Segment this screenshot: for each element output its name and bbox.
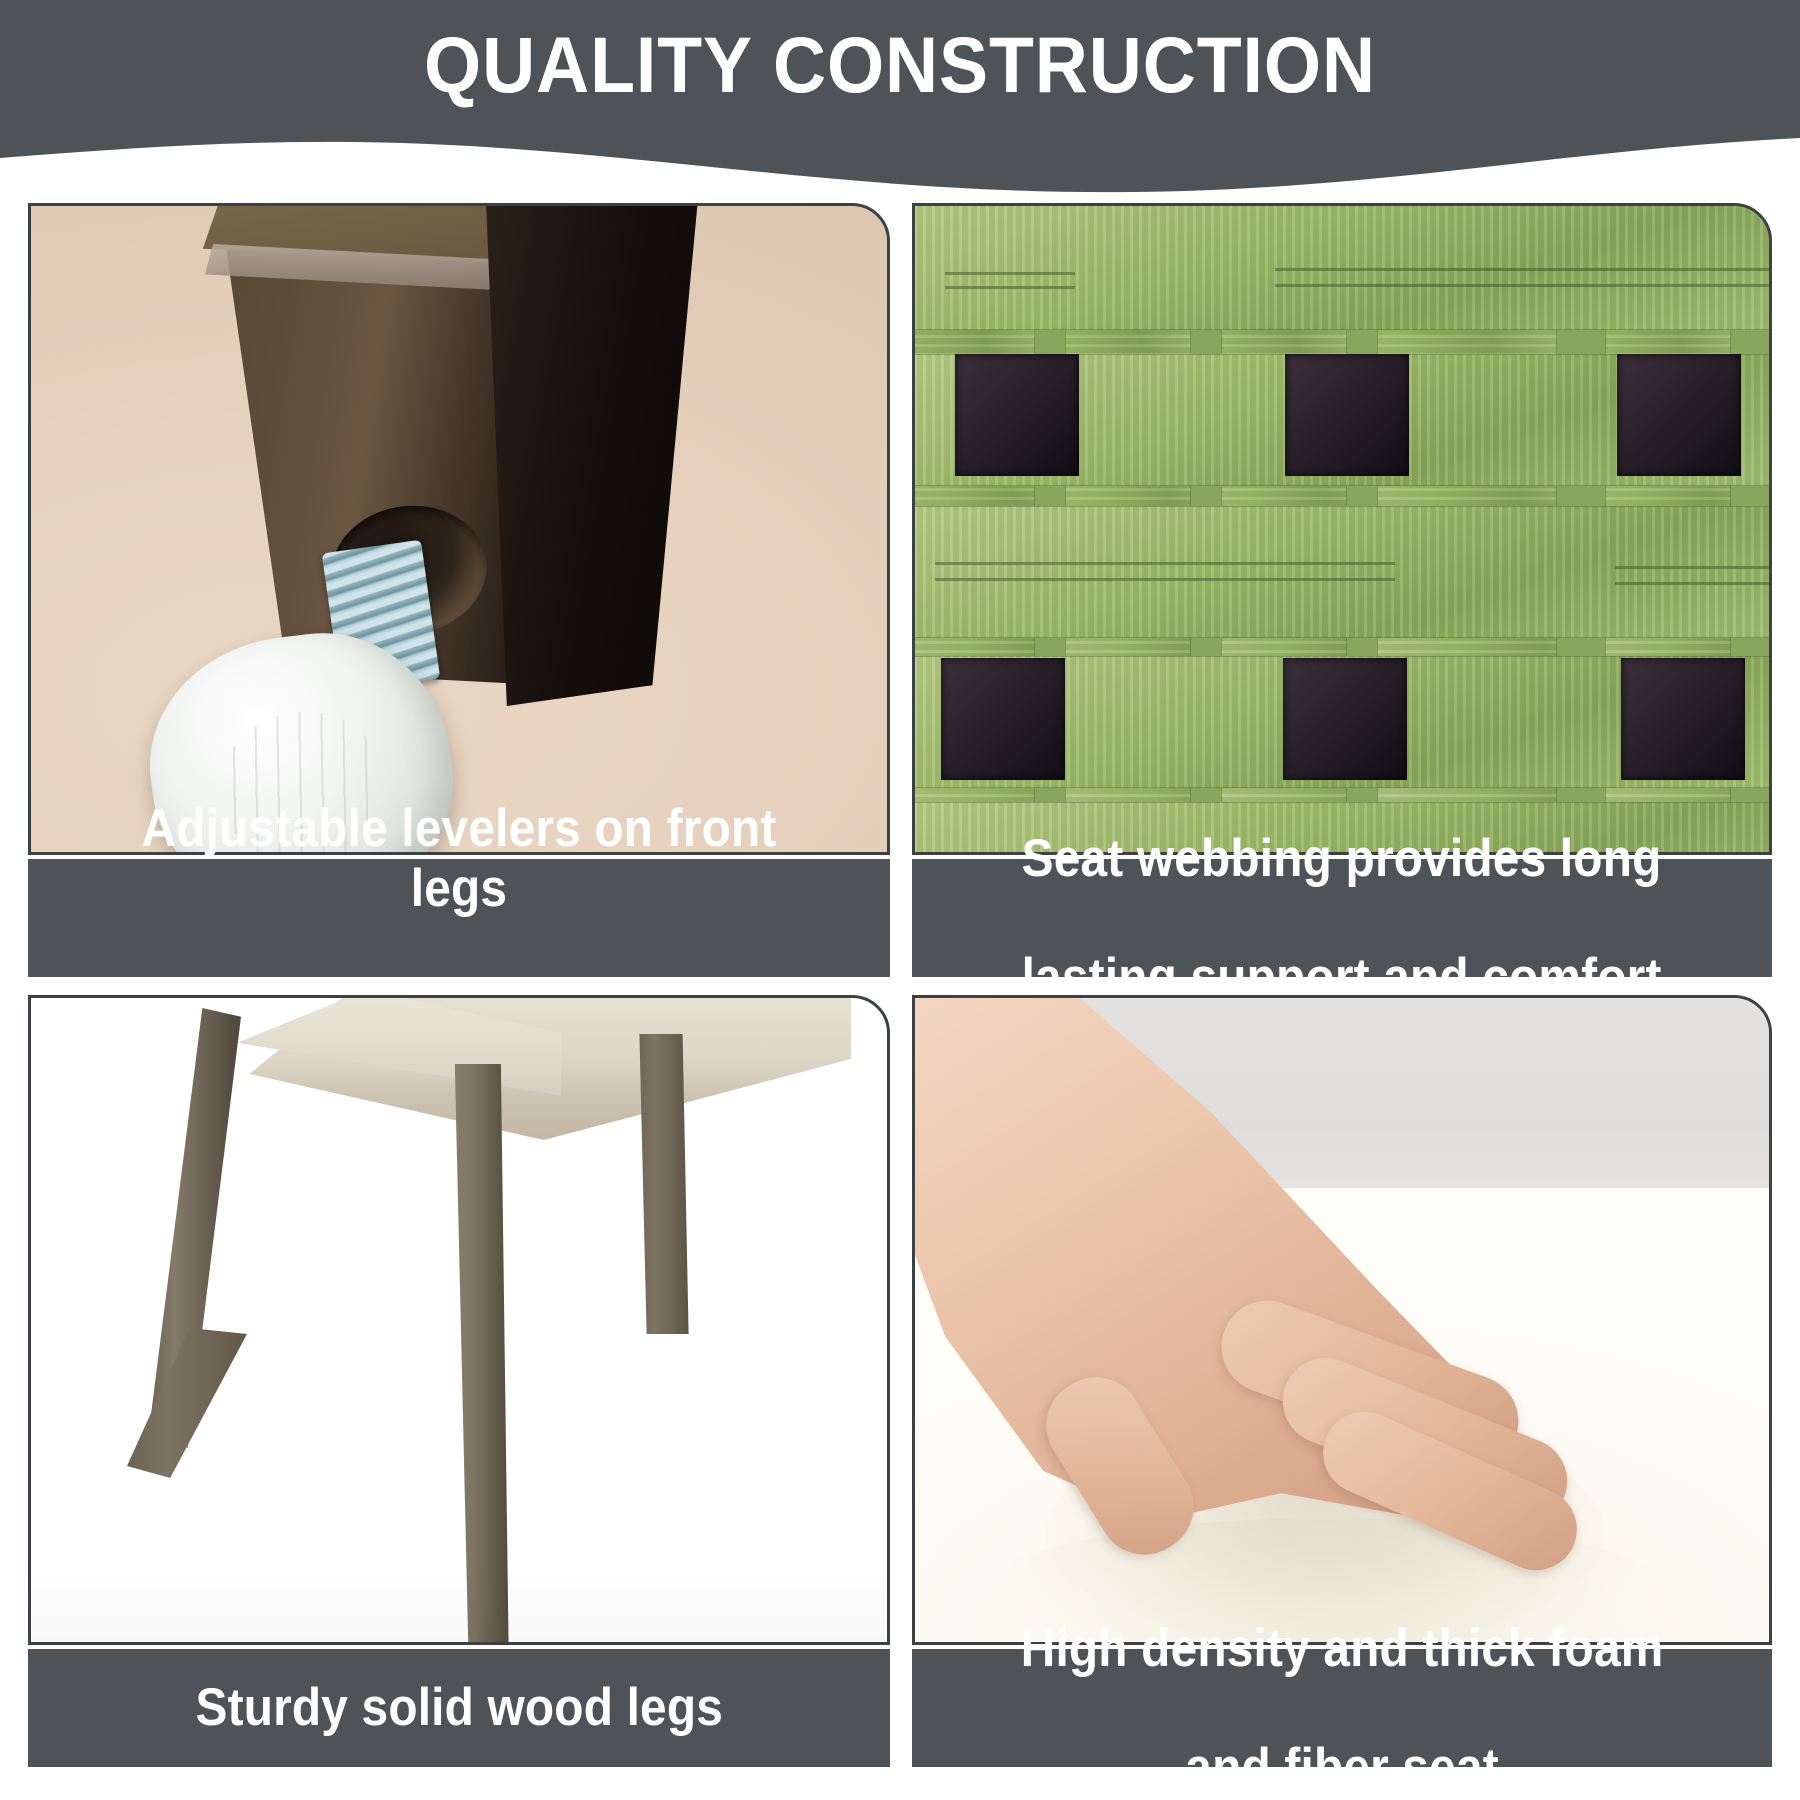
webbing-stitch: [945, 286, 1075, 289]
webbing-strip-horizontal: [912, 506, 1772, 638]
caption-line-2: and fiber seat: [1021, 1738, 1664, 1797]
webbing-gap: [1283, 658, 1407, 780]
feature-panel-solid-wood-legs: Sturdy solid wood legs: [28, 995, 890, 1767]
feature-panel-foam-fiber-seat: High density and thick foam and fiber se…: [912, 995, 1772, 1767]
webbing-gap: [941, 658, 1065, 780]
webbing-strip-horizontal: [912, 203, 1772, 330]
wood-leg-shadow-side: [486, 203, 746, 706]
floor-shadow: [31, 1552, 887, 1642]
caption-foam-fiber-seat: High density and thick foam and fiber se…: [912, 1649, 1772, 1767]
webbing-stitch: [935, 578, 1395, 581]
caption-line-1: Seat webbing provides long: [1022, 829, 1662, 888]
webbing-weave: [915, 206, 1769, 852]
webbing-gap: [1285, 354, 1409, 476]
webbing-gap: [1621, 658, 1745, 780]
foam-press-photo: [912, 995, 1772, 1645]
feature-panel-adjustable-levelers: Adjustable levelers on front legs for un…: [28, 203, 890, 977]
webbing-stitch: [1615, 566, 1772, 569]
webbing-gap: [955, 354, 1079, 476]
webbing-stitch: [935, 562, 1395, 565]
wood-legs-photo: [28, 995, 890, 1645]
leveler-photo: [28, 203, 890, 855]
chair-leg-left-foot: [127, 1328, 247, 1478]
caption-seat-webbing: Seat webbing provides long lasting suppo…: [912, 859, 1772, 977]
caption-solid-wood-legs: Sturdy solid wood legs: [28, 1649, 890, 1767]
webbing-stitch: [945, 272, 1075, 275]
feature-panel-seat-webbing: Seat webbing provides long lasting suppo…: [912, 203, 1772, 977]
feature-grid: Adjustable levelers on front legs for un…: [0, 0, 1800, 1800]
webbing-stitch: [1275, 268, 1772, 271]
seat-webbing-photo: [912, 203, 1772, 855]
caption-line-1: Adjustable levelers on front legs: [90, 799, 828, 918]
caption-line-1: Sturdy solid wood legs: [195, 1678, 723, 1737]
caption-line-1: High density and thick foam: [1021, 1619, 1664, 1678]
webbing-gap: [1617, 354, 1741, 476]
webbing-stitch: [1275, 284, 1772, 287]
caption-adjustable-levelers: Adjustable levelers on front legs for un…: [28, 859, 890, 977]
webbing-stitch: [1615, 582, 1772, 585]
